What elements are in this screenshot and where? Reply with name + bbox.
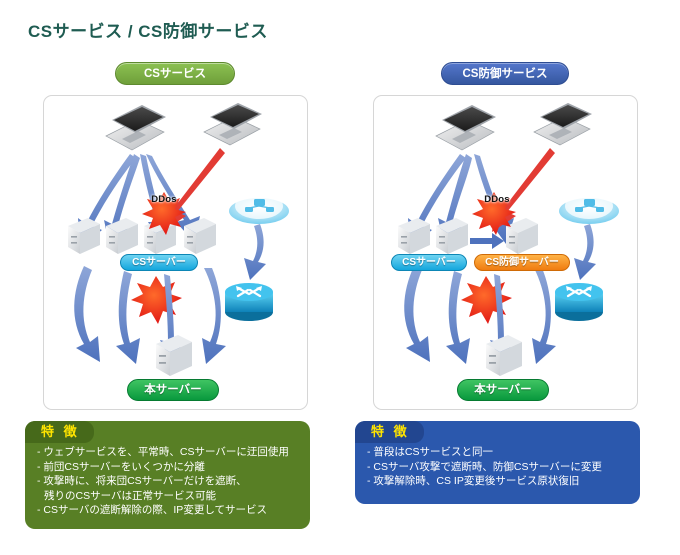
feature-item: 残りのCSサーバは正常サービス可能 (37, 489, 300, 504)
flow-arrows-converge-left (74, 266, 226, 364)
feature-box-cs-defense-service: 特 徴 - 普段はCSサービスと同一 - CSサーバ攻撃で遮断時、防御CSサーバ… (355, 421, 640, 504)
feature-item: - CSサーバ攻撃で遮断時、防御CSサーバーに変更 (367, 460, 630, 475)
ddos-label-left: DDos (144, 192, 184, 209)
main-server-label-right: 本サーバー (457, 379, 549, 401)
laptop-icon-left (436, 105, 496, 150)
feature-tab-right: 特 徴 (355, 421, 424, 443)
feature-item: - ウェブサービスを、平常時、CSサーバーに迂回使用 (37, 445, 300, 460)
attack-burst-bottom-right (461, 276, 512, 324)
feature-tab-left: 特 徴 (25, 421, 94, 443)
feature-item: - 攻撃解除時、CS IP変更後サービス原状復旧 (367, 474, 630, 489)
laptop-icon-right (534, 103, 592, 145)
server-row-right (398, 218, 538, 254)
router-icon-right (555, 283, 603, 321)
feature-item: - 攻撃時に、将来団CSサーバーだけを遮断、 (37, 474, 300, 489)
cloud-icon-left (229, 193, 289, 224)
feature-list-left: - ウェブサービスを、平常時、CSサーバーに迂回使用 - 前団CSサーバーをいく… (37, 445, 300, 518)
diagram-canvas-left: DDos CSサーバー 本サーバー (44, 96, 307, 409)
diagram-cs-service: DDos CSサーバー 本サーバー (43, 95, 308, 410)
flow-arrows-converge-right (404, 266, 556, 364)
router-icon-left (225, 283, 273, 321)
defense-server-label-right: CS防御サーバー (474, 254, 570, 271)
laptop-icon-left (106, 105, 166, 150)
attack-burst-bottom-left (131, 276, 182, 324)
cs-server-label-left: CSサーバー (120, 254, 198, 271)
cloud-icon-right (559, 193, 619, 224)
panel-cs-defense-service: CS防御サービス (355, 62, 655, 504)
page-title: CSサービス / CS防御サービス (28, 17, 268, 42)
feature-list-right: - 普段はCSサービスと同一 - CSサーバ攻撃で遮断時、防御CSサーバーに変更… (367, 445, 630, 489)
feature-item: - CSサーバの遮断解除の際、IP変更してサービス (37, 503, 300, 518)
cs-server-label-right: CSサーバー (391, 254, 467, 271)
main-server-label-left: 本サーバー (127, 379, 219, 401)
panel-header-cs-service: CSサービス (115, 62, 235, 85)
feature-box-cs-service: 特 徴 - ウェブサービスを、平常時、CSサーバーに迂回使用 - 前団CSサーバ… (25, 421, 310, 529)
diagram-page: CSサービス / CS防御サービス CSサービス (0, 0, 680, 555)
failover-arrow-right (470, 233, 504, 249)
ddos-label-right: DDos (477, 192, 517, 209)
cloud-to-router-arrow-right (574, 224, 596, 280)
feature-item: - 前団CSサーバーをいくつかに分離 (37, 460, 300, 475)
laptop-icon-right (204, 103, 262, 145)
cloud-to-router-arrow-left (244, 224, 266, 280)
panel-cs-service: CSサービス (25, 62, 325, 529)
server-row-left (68, 218, 216, 254)
diagram-cs-defense-service: DDos CSサーバー CS防御サーバー 本サーバー (373, 95, 638, 410)
panel-header-cs-defense-service: CS防御サービス (441, 62, 569, 85)
feature-item: - 普段はCSサービスと同一 (367, 445, 630, 460)
diagram-canvas-right: DDos CSサーバー CS防御サーバー 本サーバー (374, 96, 637, 409)
